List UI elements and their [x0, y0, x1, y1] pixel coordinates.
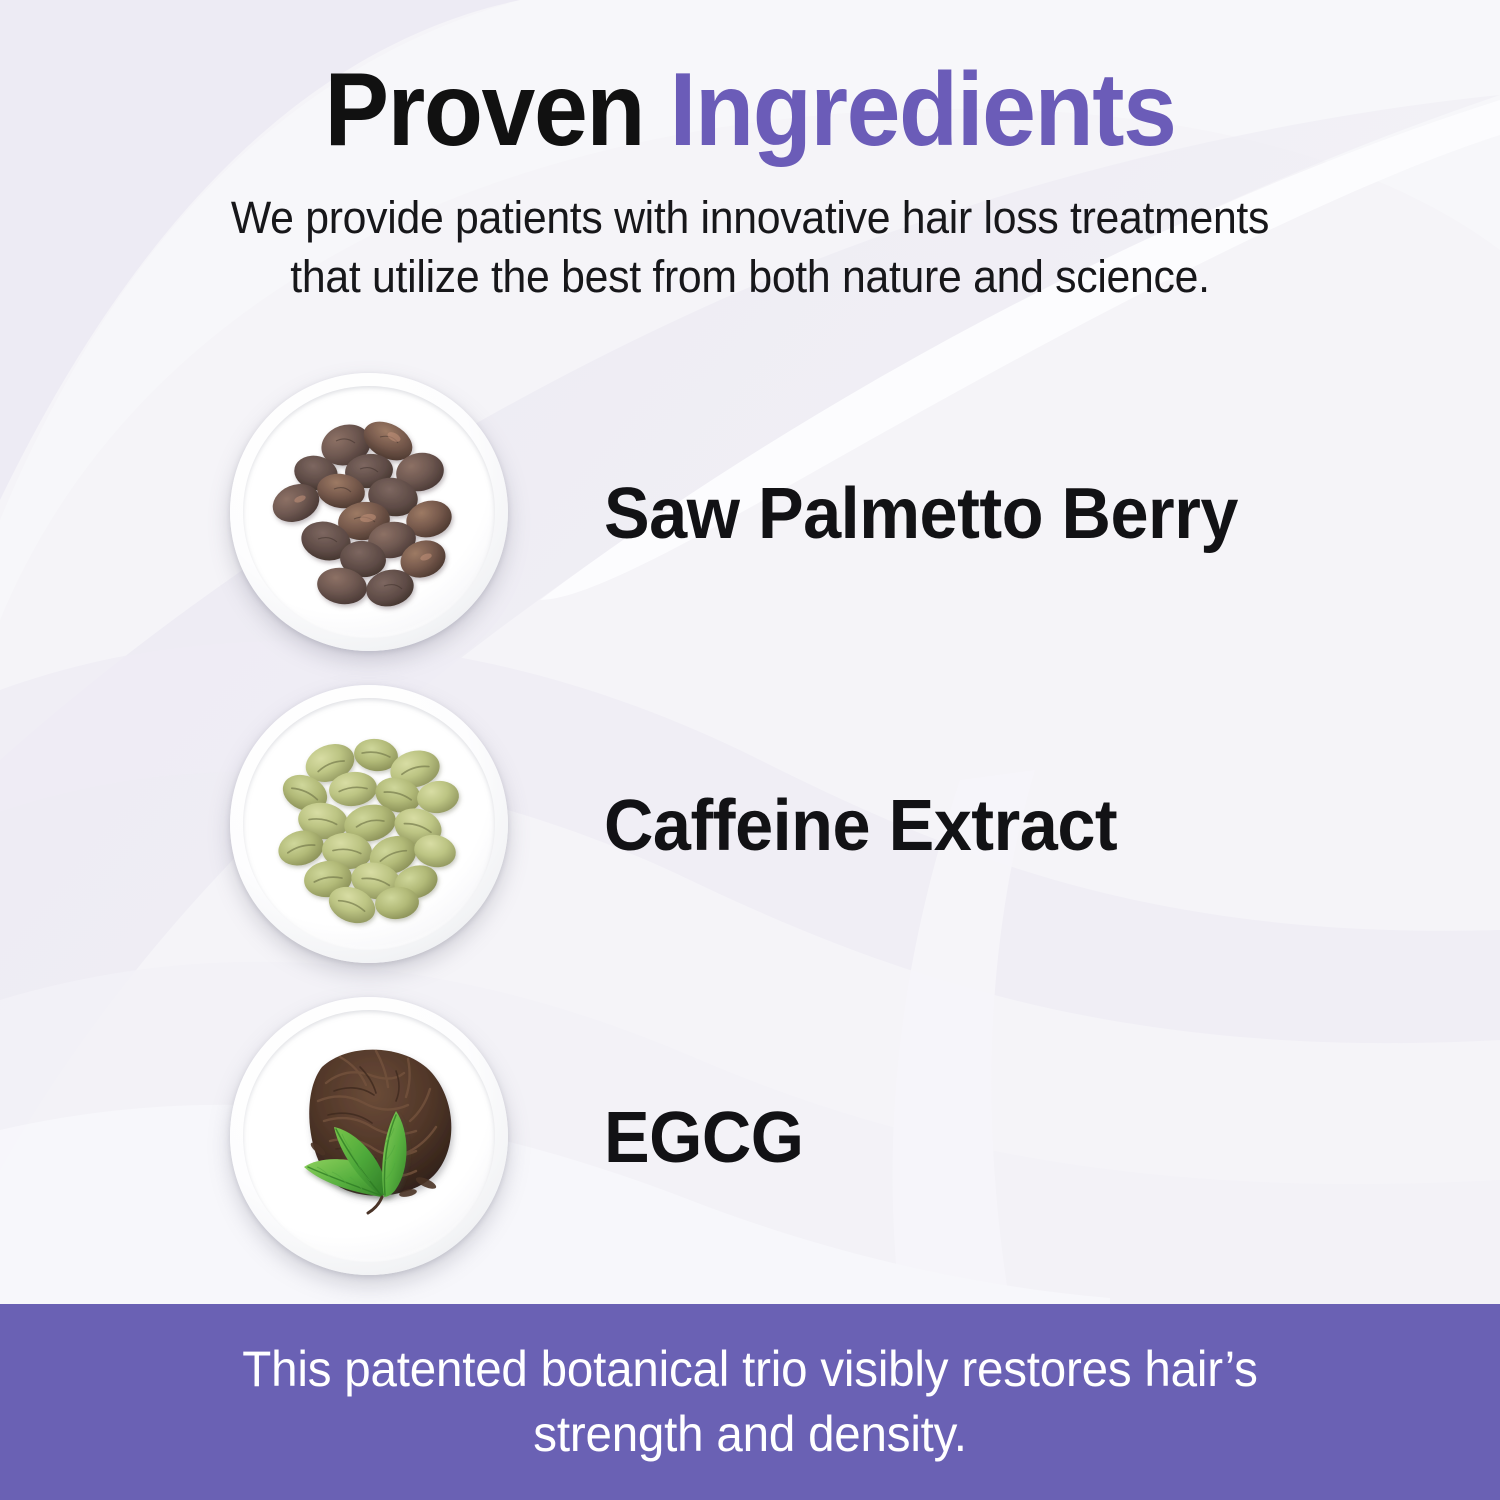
- bottom-banner: This patented botanical trio visibly res…: [0, 1304, 1500, 1500]
- infographic-page: Proven Ingredients We provide patients w…: [0, 0, 1500, 1500]
- ingredient-row: Saw Palmetto Berry: [0, 358, 1500, 670]
- subtitle: We provide patients with innovative hair…: [180, 162, 1320, 307]
- title-word-ingredients: Ingredients: [670, 52, 1176, 168]
- banner-line-2: strength and density.: [152, 1402, 1349, 1467]
- page-title: Proven Ingredients: [53, 0, 1448, 162]
- ingredient-name: EGCG: [604, 1097, 804, 1179]
- ingredient-name: Saw Palmetto Berry: [604, 473, 1238, 555]
- petri-dish-saw-palmetto: [230, 373, 512, 655]
- ingredient-list: Saw Palmetto Berry: [0, 358, 1500, 1294]
- petri-dish-caffeine: [230, 685, 512, 967]
- banner-line-1: This patented botanical trio visibly res…: [152, 1337, 1349, 1402]
- header: Proven Ingredients We provide patients w…: [0, 0, 1500, 307]
- saw-palmetto-berries-image: [230, 373, 512, 655]
- subtitle-line-2: that utilize the best from both nature a…: [180, 247, 1320, 306]
- green-tea-leaves-image: [230, 997, 512, 1279]
- subtitle-line-1: We provide patients with innovative hair…: [180, 188, 1320, 247]
- green-coffee-beans-image: [230, 685, 512, 967]
- title-word-proven: Proven: [325, 52, 645, 168]
- petri-dish-egcg: [230, 997, 512, 1279]
- banner-text: This patented botanical trio visibly res…: [152, 1337, 1349, 1467]
- ingredient-row: EGCG: [0, 982, 1500, 1294]
- ingredient-row: Caffeine Extract: [0, 670, 1500, 982]
- ingredient-name: Caffeine Extract: [604, 785, 1117, 867]
